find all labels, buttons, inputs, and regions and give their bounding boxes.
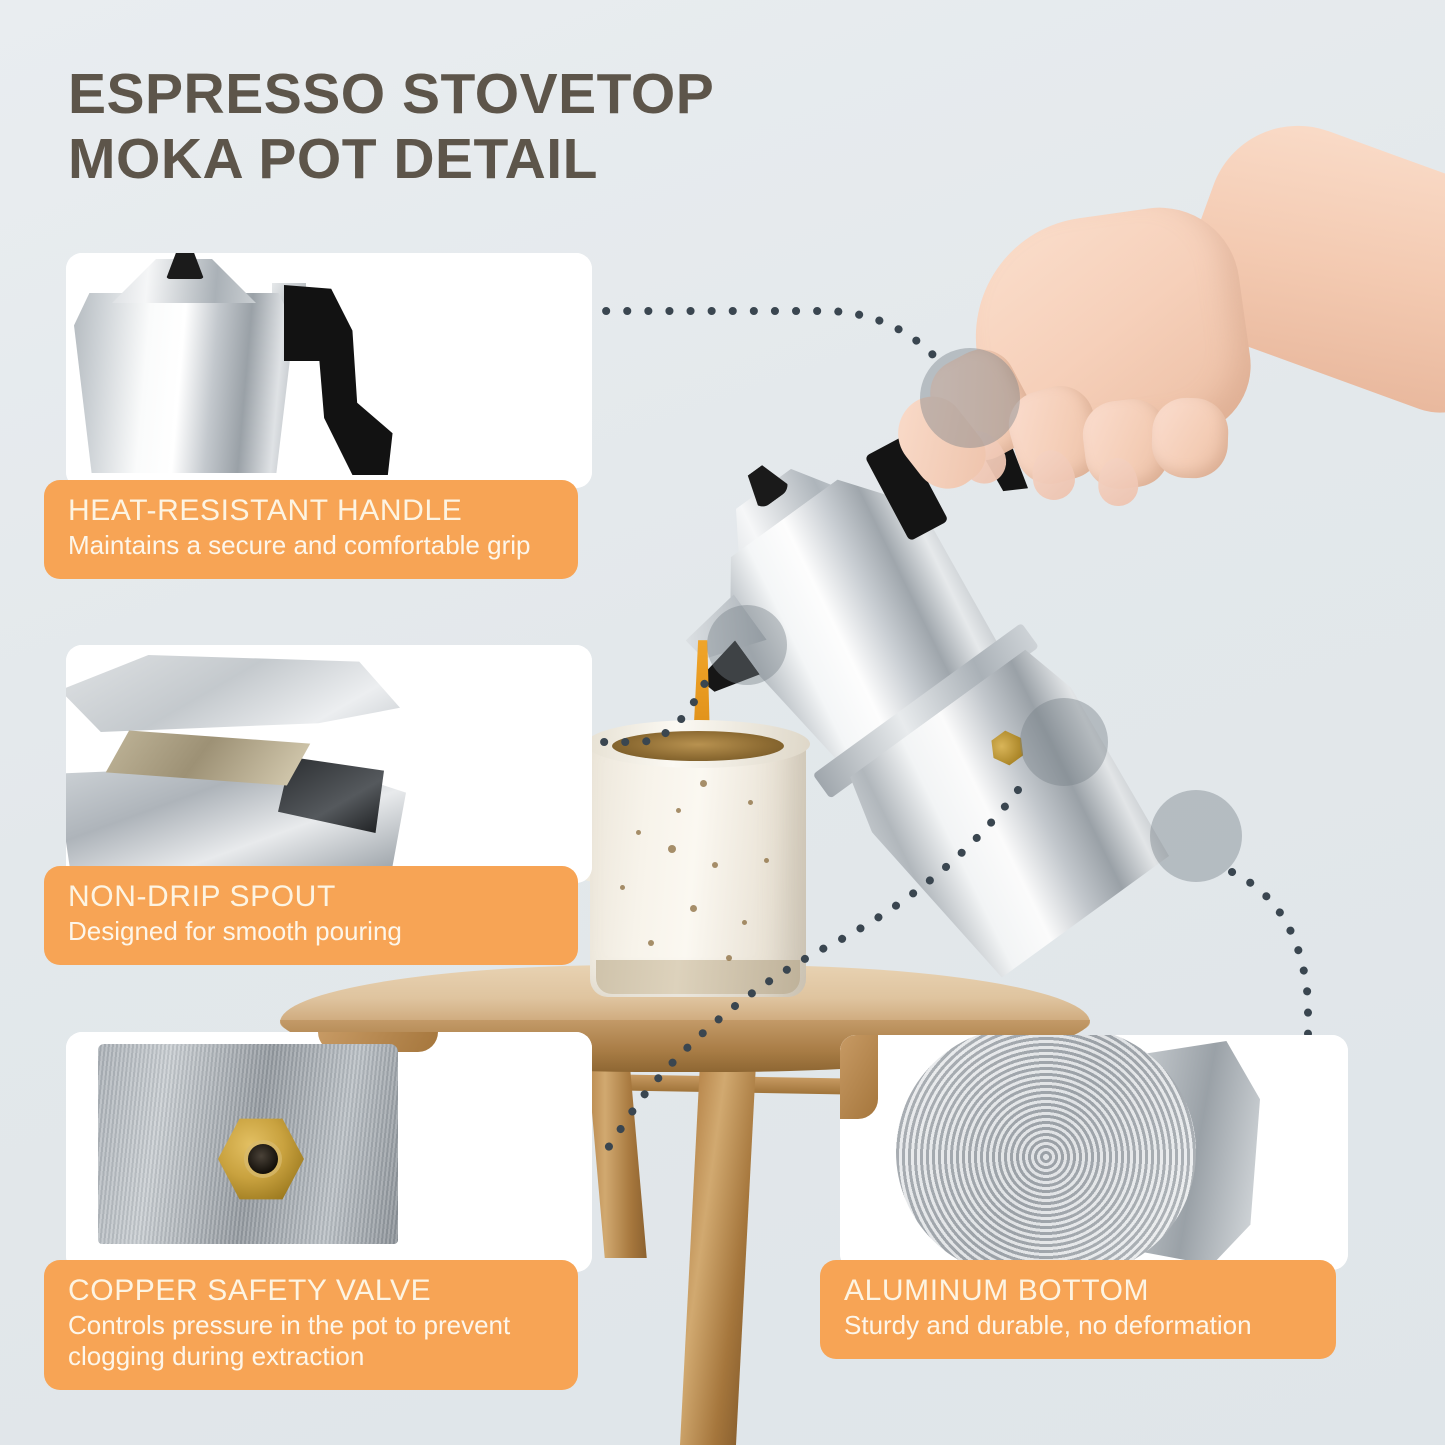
feature-band-spout: NON-DRIP SPOUT Designed for smooth pouri… <box>44 866 578 965</box>
ceramic-cup <box>590 735 806 997</box>
cup-speckle <box>676 808 681 813</box>
finger-pinky <box>1151 397 1230 480</box>
infographic-canvas: .dotline { fill:none; stroke:#3a4650; st… <box>0 0 1445 1445</box>
cup-speckle <box>620 885 625 890</box>
feature-band-handle: HEAT-RESISTANT HANDLE Maintains a secure… <box>44 480 578 579</box>
cup-coffee-surface <box>612 731 784 761</box>
feature-description: Sturdy and durable, no deformation <box>844 1310 1314 1341</box>
feature-card-heat-resistant-handle[interactable]: HEAT-RESISTANT HANDLE Maintains a secure… <box>44 253 592 608</box>
cup-speckle <box>648 940 654 946</box>
feature-title: HEAT-RESISTANT HANDLE <box>68 494 556 528</box>
cup-speckle <box>636 830 641 835</box>
cup-speckle <box>700 780 707 787</box>
feature-photo-bottom <box>840 1035 1348 1270</box>
wood-backdrop <box>840 1035 878 1119</box>
feature-description: Maintains a secure and comfortable grip <box>68 530 556 561</box>
cup-speckle <box>748 800 753 805</box>
feature-band-bottom: ALUMINUM BOTTOM Sturdy and durable, no d… <box>820 1260 1336 1359</box>
feature-card-aluminum-bottom[interactable]: ALUMINUM BOTTOM Sturdy and durable, no d… <box>820 1035 1350 1380</box>
valve-aperture <box>248 1144 278 1174</box>
cup-speckle <box>726 955 732 961</box>
cup-speckle <box>742 920 747 925</box>
pot-body-photo <box>74 293 294 473</box>
feature-photo-spout <box>66 645 592 883</box>
hotspot-handle[interactable] <box>920 348 1020 448</box>
feature-photo-valve <box>66 1032 592 1272</box>
feature-photo-handle <box>66 253 592 488</box>
stool-leg <box>680 1060 756 1445</box>
feature-card-copper-safety-valve[interactable]: COPPER SAFETY VALVE Controls pressure in… <box>44 1032 592 1402</box>
feature-title: ALUMINUM BOTTOM <box>844 1274 1314 1308</box>
hotspot-bottom[interactable] <box>1150 790 1242 882</box>
feature-band-valve: COPPER SAFETY VALVE Controls pressure in… <box>44 1260 578 1390</box>
feature-title: NON-DRIP SPOUT <box>68 880 556 914</box>
cup-speckle <box>712 862 718 868</box>
machined-base-disc <box>896 1035 1196 1270</box>
cup-speckle <box>690 905 697 912</box>
feature-card-non-drip-spout[interactable]: NON-DRIP SPOUT Designed for smooth pouri… <box>44 645 592 990</box>
cup-speckle <box>668 845 676 853</box>
feature-description: Designed for smooth pouring <box>68 916 556 947</box>
page-title: ESPRESSO STOVETOP MOKA POT DETAIL <box>68 62 888 192</box>
hotspot-valve[interactable] <box>1020 698 1108 786</box>
cup-foot <box>596 960 800 994</box>
hotspot-spout[interactable] <box>707 605 787 685</box>
feature-title: COPPER SAFETY VALVE <box>68 1274 556 1308</box>
cup-speckle <box>764 858 769 863</box>
feature-description: Controls pressure in the pot to prevent … <box>68 1310 556 1372</box>
title-line-1: ESPRESSO STOVETOP <box>68 62 888 127</box>
title-line-2: MOKA POT DETAIL <box>68 127 888 192</box>
